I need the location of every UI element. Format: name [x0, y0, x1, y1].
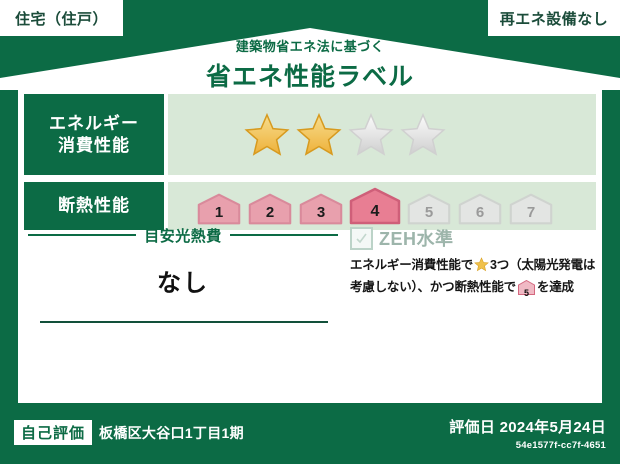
zeh-header: ZEH水準 [350, 225, 600, 251]
energy-label: 建築物省エネ法に基づく 省エネ性能ラベル 住宅（住戸） 再エネ設備なし エネルギ… [0, 0, 620, 464]
lower-section: 目安光熱費 なし ZEH水準 エネルギー消費性能で [18, 225, 602, 403]
insulation-level-4: 4 [349, 187, 401, 225]
zeh-desc-part1: エネルギー消費性能で [350, 258, 473, 272]
insulation-level-2: 2 [247, 193, 293, 225]
utility-cost-title: 目安光熱費 [136, 225, 230, 246]
zeh-desc-part3: を達成 [537, 280, 574, 294]
insulation-level-number: 1 [196, 204, 242, 221]
cost-rule-right [230, 234, 338, 236]
energy-performance-label: エネルギー 消費性能 [24, 94, 164, 175]
insulation-level-number: 4 [349, 203, 401, 221]
house-level-number: 5 [518, 287, 535, 301]
star-filled-icon [296, 112, 342, 158]
zeh-title: ZEH水準 [379, 225, 454, 251]
house-level-icon: 5 [518, 280, 535, 301]
insulation-performance-value: 1234567 [168, 182, 596, 230]
label-footer: 自己評価 板橋区大谷口1丁目1期 評価日 2024年5月24日 54e1577f… [0, 404, 620, 464]
energy-performance-value [168, 94, 596, 175]
property-address: 板橋区大谷口1丁目1期 [99, 423, 244, 443]
footer-right: 評価日 2024年5月24日 54e1577f-cc7f-4651 [449, 416, 606, 451]
insulation-label-text: 断熱性能 [58, 195, 130, 216]
status-badge: 自己評価 [14, 420, 92, 445]
tab-renewable-energy[interactable]: 再エネ設備なし [488, 0, 620, 36]
insulation-scale: 1234567 [168, 187, 554, 225]
insulation-level-number: 7 [508, 204, 554, 221]
insulation-level-6: 6 [457, 193, 503, 225]
zeh-section: ZEH水準 エネルギー消費性能で 3つ（太陽光発電は考慮しない）、かつ断熱性能で… [350, 225, 600, 302]
insulation-level-number: 3 [298, 204, 344, 221]
utility-cost-header: 目安光熱費 [28, 225, 338, 245]
insulation-performance-row: 断熱性能 1234567 [24, 182, 602, 230]
footer-left: 自己評価 板橋区大谷口1丁目1期 [14, 420, 244, 445]
star-empty-icon [348, 112, 394, 158]
tab-building-type[interactable]: 住宅（住戸） [0, 0, 123, 36]
star-filled-icon [244, 112, 290, 158]
zeh-description: エネルギー消費性能で 3つ（太陽光発電は考慮しない）、かつ断熱性能で 5 を達成 [350, 256, 600, 302]
star-icon [474, 257, 489, 278]
star-empty-icon [400, 112, 446, 158]
energy-performance-row: エネルギー 消費性能 [24, 94, 602, 175]
label-panel: エネルギー 消費性能 断熱性能 1234567 目安光熱費 なし [18, 88, 602, 403]
star-rating [168, 112, 446, 158]
evaluation-id: 54e1577f-cc7f-4651 [449, 440, 606, 451]
evaluation-date: 評価日 2024年5月24日 [449, 416, 606, 437]
insulation-level-number: 5 [406, 204, 452, 221]
energy-label-line1: エネルギー [49, 113, 139, 134]
insulation-level-7: 7 [508, 193, 554, 225]
insulation-level-3: 3 [298, 193, 344, 225]
cost-rule-left [28, 234, 136, 236]
insulation-level-1: 1 [196, 193, 242, 225]
cost-bottom-rule [40, 321, 328, 323]
insulation-level-number: 2 [247, 204, 293, 221]
insulation-level-5: 5 [406, 193, 452, 225]
energy-label-line2: 消費性能 [58, 135, 130, 156]
insulation-level-number: 6 [457, 204, 503, 221]
insulation-performance-label: 断熱性能 [24, 182, 164, 230]
checkbox-icon [350, 227, 373, 250]
utility-cost-value: なし [28, 263, 338, 298]
